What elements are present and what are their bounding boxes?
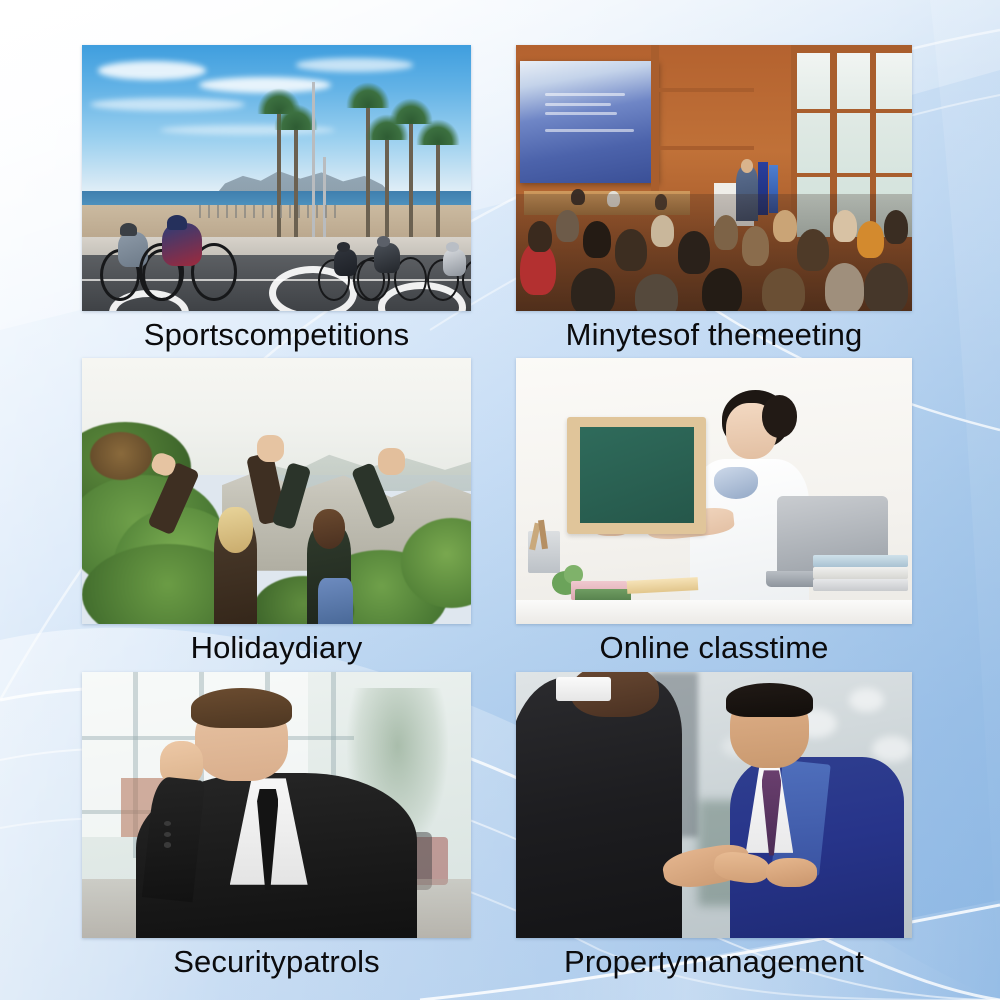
online-teacher-photo[interactable] bbox=[516, 358, 912, 624]
card-caption: Securitypatrols bbox=[173, 944, 380, 980]
card-caption: Sportscompetitions bbox=[144, 317, 409, 353]
card-caption: Holidaydiary bbox=[191, 630, 363, 666]
card-grid: Sportscompetitions bbox=[0, 0, 1000, 1000]
conference-audience-photo[interactable] bbox=[516, 45, 912, 311]
card-caption: Propertymanagement bbox=[564, 944, 864, 980]
hikers-viewpoint-photo[interactable] bbox=[82, 358, 471, 624]
business-handshake-photo[interactable] bbox=[516, 672, 912, 938]
card-caption: Online classtime bbox=[599, 630, 828, 666]
card-caption: Minytesof themeeting bbox=[566, 317, 863, 353]
security-guard-photo[interactable] bbox=[82, 672, 471, 938]
collage-stage: Sportscompetitions bbox=[0, 0, 1000, 1000]
cyclists-seafront-photo[interactable] bbox=[82, 45, 471, 311]
